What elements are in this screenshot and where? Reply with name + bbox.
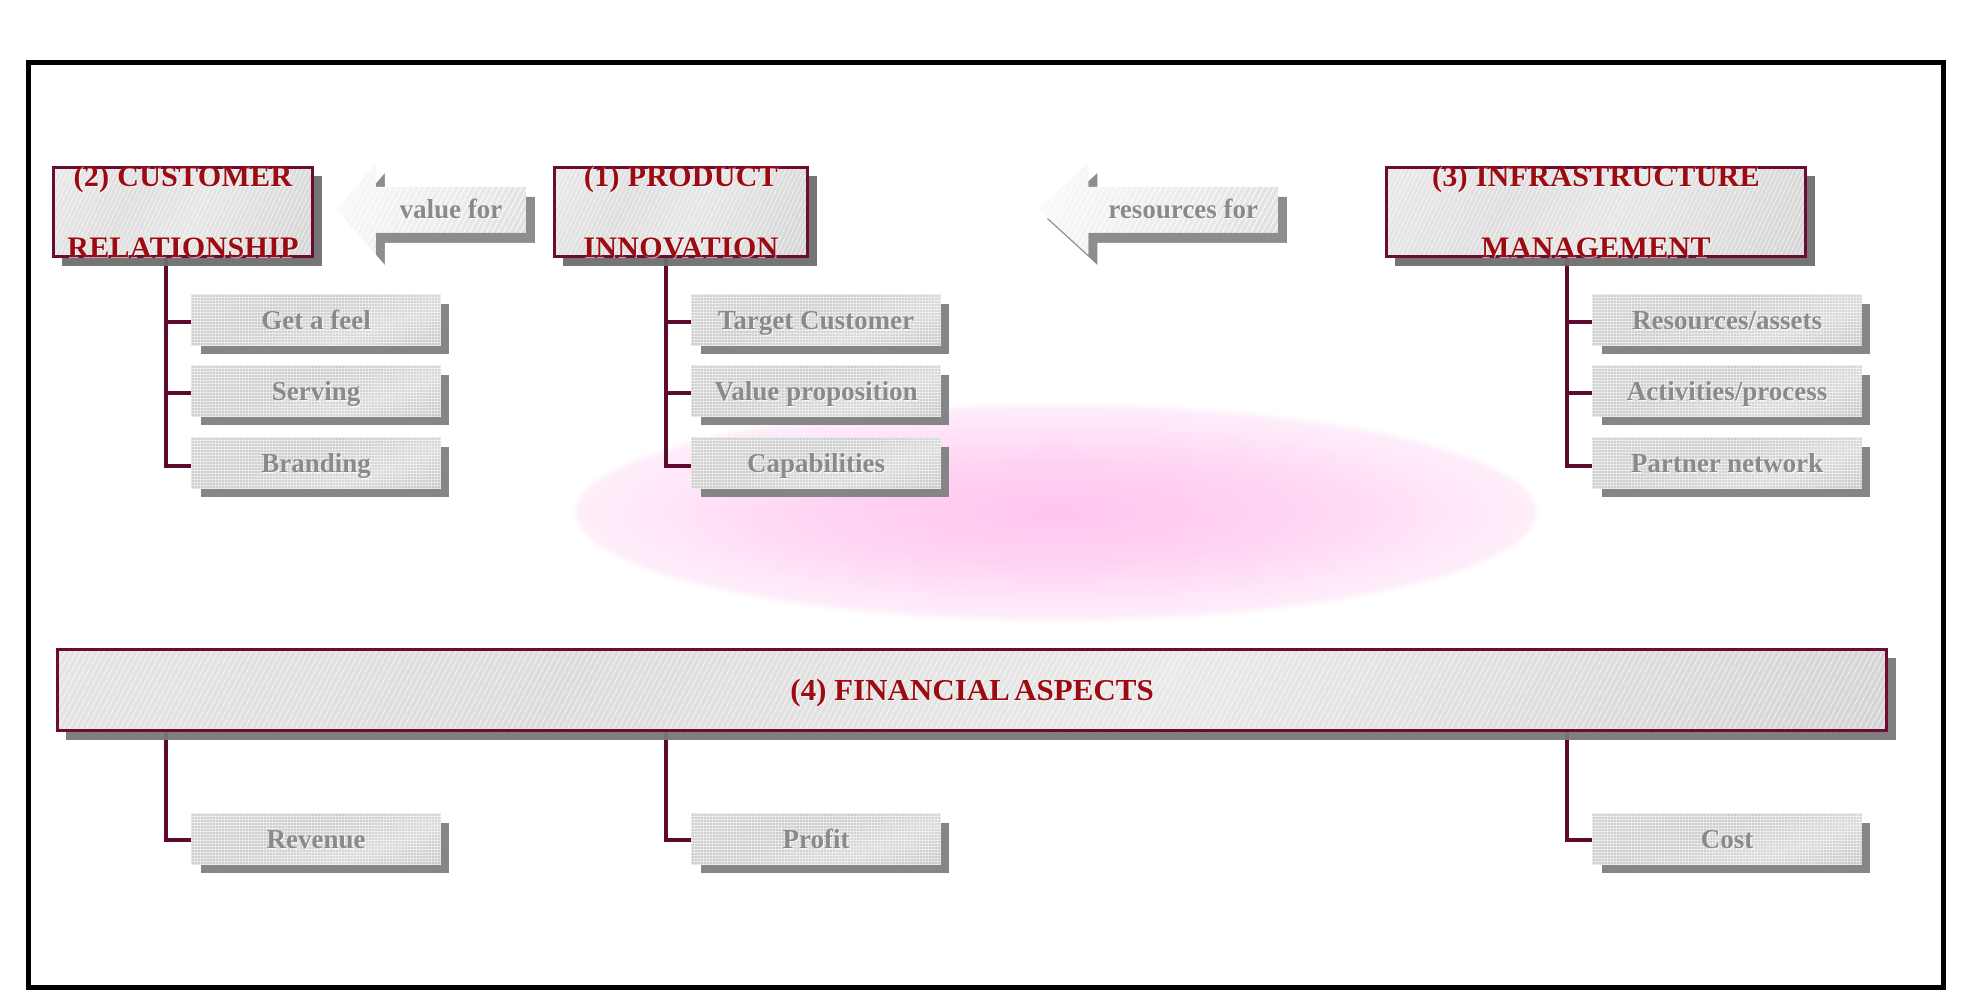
connector-branch-product-2: [664, 391, 694, 395]
connector-branch-customer-1: [164, 320, 194, 324]
arrow-label-value-for: value for: [376, 187, 526, 233]
connector-branch-product-3: [664, 464, 694, 468]
sub-box-financial-1[interactable]: Revenue: [191, 813, 441, 865]
sub-box-label: Cost: [1701, 824, 1754, 855]
connector-branch-infra-3: [1565, 464, 1595, 468]
sub-box-infrastructure-1[interactable]: Resources/assets: [1592, 294, 1862, 346]
header-line-1: (2) CUSTOMER: [67, 159, 298, 194]
connector-branch-financial-left: [164, 838, 194, 842]
header-line-2: MANAGEMENT: [1432, 230, 1760, 265]
connector-branch-customer-2: [164, 391, 194, 395]
arrow-label-resources-for: resources for: [1088, 187, 1278, 233]
connector-branch-financial-right: [1565, 838, 1595, 842]
connector-branch-product-1: [664, 320, 694, 324]
sub-box-label: Revenue: [267, 824, 366, 855]
sub-box-infrastructure-3[interactable]: Partner network: [1592, 437, 1862, 489]
header-box-customer-relationship[interactable]: (2) CUSTOMER RELATIONSHIP: [52, 166, 314, 258]
connector-branch-financial-center: [664, 838, 694, 842]
sub-box-label: Profit: [783, 824, 850, 855]
sub-box-infrastructure-2[interactable]: Activities/process: [1592, 365, 1862, 417]
sub-box-customer-2[interactable]: Serving: [191, 365, 441, 417]
header-line-2: RELATIONSHIP: [67, 230, 298, 265]
header-label-product-innovation: (1) PRODUCT INNOVATION: [583, 159, 778, 265]
header-line-1: (1) PRODUCT: [583, 159, 778, 194]
connector-branch-infra-1: [1565, 320, 1595, 324]
sub-box-customer-3[interactable]: Branding: [191, 437, 441, 489]
sub-box-label: Activities/process: [1627, 376, 1827, 407]
sub-box-label: Capabilities: [747, 448, 885, 479]
sub-box-label: Get a feel: [261, 305, 370, 336]
header-box-product-innovation[interactable]: (1) PRODUCT INNOVATION: [553, 166, 809, 258]
sub-box-customer-1[interactable]: Get a feel: [191, 294, 441, 346]
sub-box-financial-3[interactable]: Cost: [1592, 813, 1862, 865]
connector-vertical-financial-left: [164, 732, 168, 842]
connector-branch-customer-3: [164, 464, 194, 468]
connector-vertical-customer: [164, 258, 168, 468]
header-label-customer-relationship: (2) CUSTOMER RELATIONSHIP: [67, 159, 298, 265]
connector-vertical-financial-right: [1565, 732, 1569, 842]
sub-box-label: Resources/assets: [1632, 305, 1822, 336]
header-line-2: INNOVATION: [583, 230, 778, 265]
financial-aspects-bar[interactable]: (4) FINANCIAL ASPECTS: [56, 648, 1888, 732]
sub-box-product-3[interactable]: Capabilities: [691, 437, 941, 489]
header-line-1: (3) INFRASTRUCTURE: [1432, 159, 1760, 194]
sub-box-label: Branding: [261, 448, 371, 479]
connector-vertical-financial-center: [664, 732, 668, 842]
sub-box-label: Serving: [272, 376, 361, 407]
resources-for-arrow[interactable]: resources for: [1038, 163, 1278, 255]
diagram-canvas: (2) CUSTOMER RELATIONSHIP Get a feel Ser…: [0, 0, 1972, 997]
financial-aspects-label: (4) FINANCIAL ASPECTS: [790, 672, 1153, 708]
sub-box-financial-2[interactable]: Profit: [691, 813, 941, 865]
connector-vertical-infrastructure: [1565, 258, 1569, 468]
sub-box-product-2[interactable]: Value proposition: [691, 365, 941, 417]
sub-box-label: Target Customer: [718, 305, 914, 336]
header-label-infrastructure-management: (3) INFRASTRUCTURE MANAGEMENT: [1432, 159, 1760, 265]
sub-box-label: Partner network: [1631, 448, 1823, 479]
connector-vertical-product: [664, 258, 668, 468]
header-box-infrastructure-management[interactable]: (3) INFRASTRUCTURE MANAGEMENT: [1385, 166, 1807, 258]
value-for-arrow[interactable]: value for: [336, 163, 526, 255]
sub-box-label: Value proposition: [714, 376, 917, 407]
connector-branch-infra-2: [1565, 391, 1595, 395]
sub-box-product-1[interactable]: Target Customer: [691, 294, 941, 346]
